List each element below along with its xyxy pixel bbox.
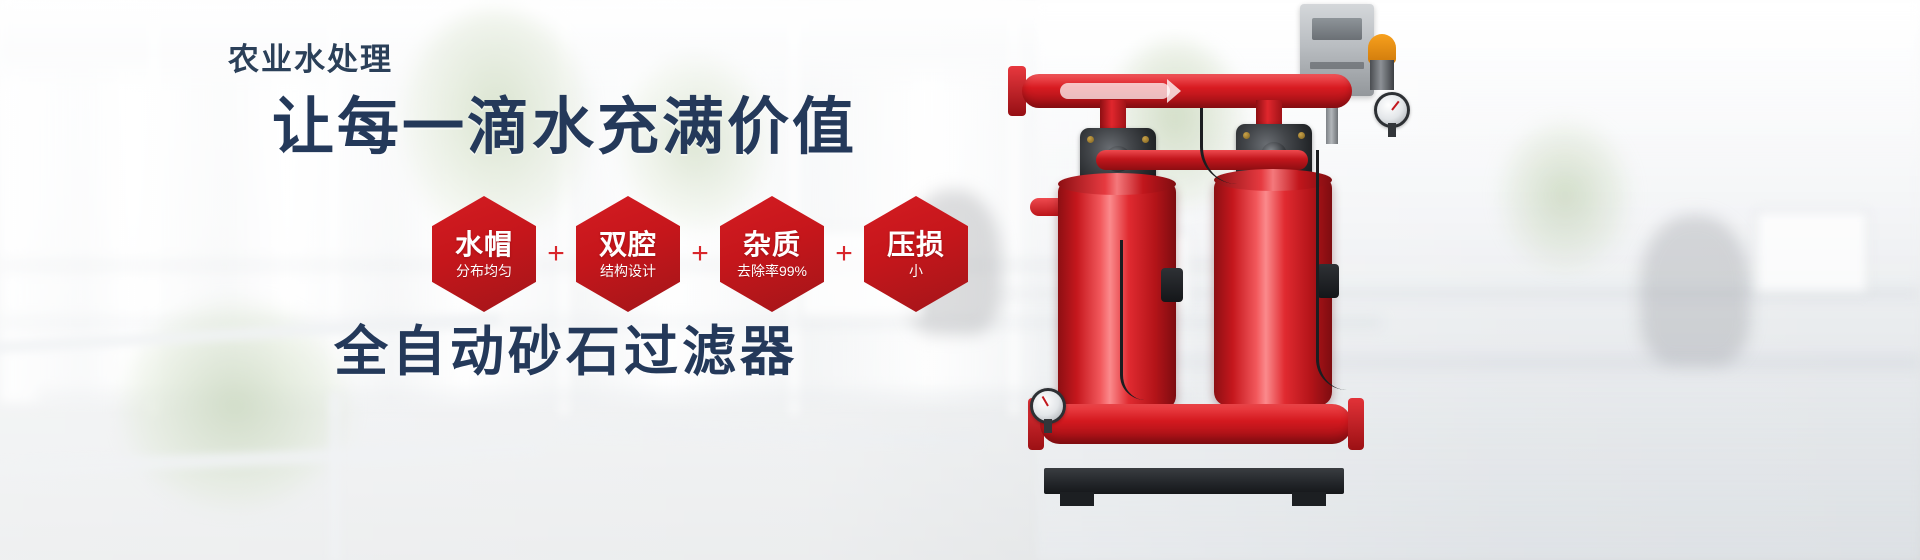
header-pipe: [1022, 74, 1352, 108]
controller-screen: [1312, 18, 1362, 40]
feature-badge-title: 压损: [887, 230, 945, 259]
feature-badge-title: 水帽: [455, 230, 513, 259]
feature-badge-subtitle: 分布均匀: [456, 264, 512, 278]
relief-valve-body: [1370, 60, 1394, 90]
valve-bolt: [1298, 132, 1305, 139]
feature-badge-title: 双腔: [599, 230, 657, 259]
gauge-needle: [1391, 101, 1399, 111]
gauge-stem: [1044, 419, 1052, 433]
valve-bolt: [1087, 136, 1094, 143]
feature-badge-shuimao[interactable]: 水帽 分布均匀: [432, 196, 536, 312]
pressure-gauge-icon: [1030, 388, 1066, 424]
sand-filter-equipment: [1000, 0, 1560, 560]
gauge-stem: [1388, 123, 1396, 137]
base-skid: [1044, 468, 1344, 494]
feature-badge-zazhi[interactable]: 杂质 去除率99%: [720, 196, 824, 312]
feature-badge-row: 水帽 分布均匀 + 双腔 结构设计 + 杂质 去除率99% + 压损 小: [432, 196, 968, 312]
controller-label-strip: [1310, 62, 1364, 69]
copy-block: 农业水处理 让每一滴水充满价值 水帽 分布均匀 + 双腔 结构设计 + 杂质 去…: [0, 0, 1000, 560]
control-hose: [1316, 150, 1347, 390]
eyebrow-text: 农业水处理: [228, 44, 393, 75]
manifold-flange-right: [1348, 398, 1364, 450]
filter-tank-right: [1214, 178, 1332, 406]
feature-badge-title: 杂质: [743, 230, 801, 259]
skid-foot: [1292, 492, 1326, 506]
flow-direction-arrow-icon: [1060, 83, 1170, 99]
feature-badge-subtitle: 去除率99%: [737, 264, 807, 278]
control-hose: [1200, 108, 1237, 184]
headline-text: 让每一滴水充满价值: [272, 97, 857, 159]
skid-foot: [1060, 492, 1094, 506]
plus-icon: +: [536, 239, 576, 269]
product-name-text: 全自动砂石过滤器: [334, 325, 798, 379]
plus-icon: +: [824, 239, 864, 269]
feature-badge-shuangqiang[interactable]: 双腔 结构设计: [576, 196, 680, 312]
feature-badge-subtitle: 小: [909, 264, 923, 278]
plus-icon: +: [680, 239, 720, 269]
feature-badge-yasun[interactable]: 压损 小: [864, 196, 968, 312]
gauge-needle: [1042, 396, 1049, 407]
pressure-gauge-icon: [1374, 92, 1410, 128]
lower-manifold-pipe: [1040, 404, 1352, 444]
control-hose: [1120, 240, 1145, 400]
filter-tank-left: [1058, 182, 1176, 410]
valve-bolt: [1243, 132, 1250, 139]
valve-bolt: [1142, 136, 1149, 143]
promo-banner: 农业水处理 让每一滴水充满价值 水帽 分布均匀 + 双腔 结构设计 + 杂质 去…: [0, 0, 1920, 560]
feature-badge-subtitle: 结构设计: [600, 264, 656, 278]
tank-top-cap: [1058, 173, 1176, 195]
tank-clamp-lug: [1161, 268, 1183, 302]
